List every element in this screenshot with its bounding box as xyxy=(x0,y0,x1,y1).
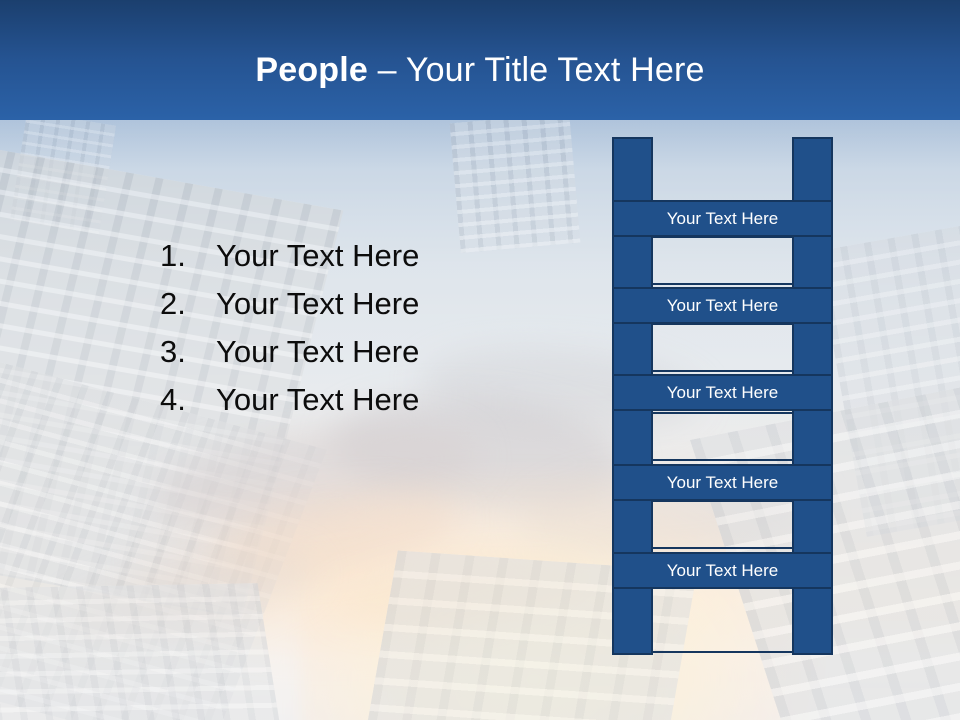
list-item[interactable]: 4. Your Text Here xyxy=(160,376,580,424)
slide: People – Your Title Text Here 1. Your Te… xyxy=(0,0,960,720)
list-item-number: 4. xyxy=(160,376,216,424)
list-item[interactable]: 3. Your Text Here xyxy=(160,328,580,376)
ladder-rung-label: Your Text Here xyxy=(667,209,779,228)
ladder-rung-3[interactable]: Your Text Here xyxy=(612,374,833,411)
page-title-rest: – Your Title Text Here xyxy=(368,51,705,89)
ladder-window-1 xyxy=(653,236,792,285)
ladder-rung-label: Your Text Here xyxy=(667,473,779,492)
ladder-window-4 xyxy=(653,500,792,549)
list-item-label: Your Text Here xyxy=(216,376,580,424)
ladder-rung-2[interactable]: Your Text Here xyxy=(612,287,833,324)
ladder-window-3 xyxy=(653,412,792,461)
ladder-window-2 xyxy=(653,323,792,372)
list-item-label: Your Text Here xyxy=(216,328,580,376)
page-title: People – Your Title Text Here xyxy=(0,50,960,90)
ladder-rung-label: Your Text Here xyxy=(667,296,779,315)
list-item-number: 3. xyxy=(160,328,216,376)
title-bar: People – Your Title Text Here xyxy=(0,0,960,120)
list-item-label: Your Text Here xyxy=(216,280,580,328)
page-title-emphasis: People xyxy=(255,51,368,89)
ladder-rung-5[interactable]: Your Text Here xyxy=(612,552,833,589)
list-item-number: 2. xyxy=(160,280,216,328)
ladder-rung-label: Your Text Here xyxy=(667,561,779,580)
ladder-rung-4[interactable]: Your Text Here xyxy=(612,464,833,501)
numbered-list: 1. Your Text Here 2. Your Text Here 3. Y… xyxy=(160,232,580,424)
list-item[interactable]: 2. Your Text Here xyxy=(160,280,580,328)
ladder-rung-label: Your Text Here xyxy=(667,383,779,402)
ladder-rung-1[interactable]: Your Text Here xyxy=(612,200,833,237)
ladder-window-5 xyxy=(653,586,792,653)
list-item[interactable]: 1. Your Text Here xyxy=(160,232,580,280)
ladder-diagram: Your Text Here Your Text Here Your Text … xyxy=(612,137,833,655)
list-item-label: Your Text Here xyxy=(216,232,580,280)
list-item-number: 1. xyxy=(160,232,216,280)
